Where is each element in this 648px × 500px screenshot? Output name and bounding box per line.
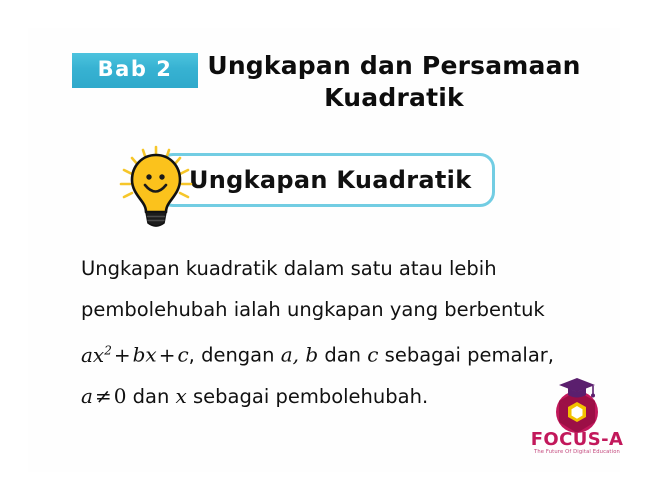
focus-a-logo: FOCUS-A The Future Of Digital Education <box>521 376 633 460</box>
formula-exponent: 2 <box>104 343 112 357</box>
body-line-3-formula: ax2+bx+c, dengan a, b dan c sebagai pema… <box>81 330 611 376</box>
section-heading-area: Ungkapan Kuadratik <box>0 143 648 233</box>
formula-c-2: c <box>367 343 378 367</box>
chapter-badge: Bab 2 <box>72 53 198 88</box>
body-line-1: Ungkapan kuadratik dalam satu atau lebih <box>81 248 611 289</box>
section-heading-box: Ungkapan Kuadratik <box>158 153 495 207</box>
formula-text-dan: dan <box>324 344 361 367</box>
formula-text-dengan: , dengan <box>189 344 275 367</box>
page-title: Ungkapan dan Persamaan Kuadratik <box>206 50 582 114</box>
condition-zero: 0 <box>114 384 127 408</box>
condition-not-equal-sign: ≠ <box>93 384 114 408</box>
formula-term-ax2: ax2 <box>81 343 112 367</box>
chapter-badge-label: Bab 2 <box>98 59 173 82</box>
focus-a-tagline: The Future Of Digital Education <box>521 449 633 455</box>
condition-text-pembolehubah: sebagai pembolehubah. <box>193 385 428 408</box>
formula-bx: bx <box>133 343 157 367</box>
formula-plus-2: + <box>157 343 178 367</box>
formula-a-b: a, b <box>281 343 318 367</box>
page-title-line-1: Ungkapan dan Persamaan <box>206 50 582 82</box>
section-heading-label: Ungkapan Kuadratik <box>189 166 471 194</box>
page-title-line-2: Kuadratik <box>206 82 582 114</box>
slide-root: Bab 2 Ungkapan dan Persamaan Kuadratik U… <box>0 0 648 500</box>
focus-a-wordmark: FOCUS-A <box>521 430 633 449</box>
body-line-2: pembolehubah ialah ungkapan yang berbent… <box>81 289 611 330</box>
slide-header: Bab 2 Ungkapan dan Persamaan Kuadratik <box>0 50 648 130</box>
focus-a-shutter-graduation-cap-logo <box>543 376 611 434</box>
lightbulb-smiley-icon <box>114 143 198 231</box>
condition-a: a <box>81 384 93 408</box>
formula-text-pemalar: sebagai pemalar, <box>385 344 554 367</box>
formula-plus-1: + <box>112 343 133 367</box>
formula-c: c <box>177 343 188 367</box>
condition-text-dan: dan <box>133 385 170 408</box>
formula-ax: ax <box>81 343 104 367</box>
condition-x: x <box>176 384 187 408</box>
